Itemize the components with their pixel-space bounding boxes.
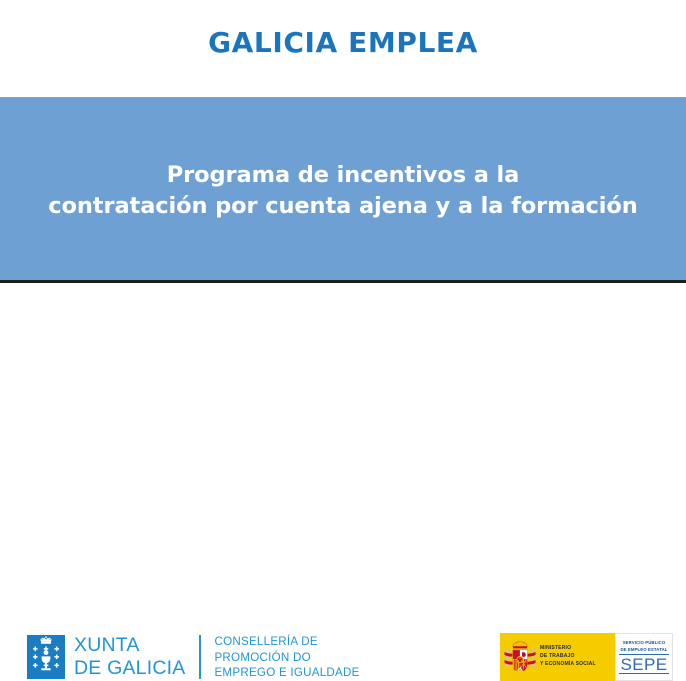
spanish-coat-of-arms-icon xyxy=(504,638,536,676)
xunta-wordmark: XUNTA DE GALICIA xyxy=(74,634,185,680)
ministerio-logo: MINISTERIO DE TRABAJO Y ECONOMÍA SOCIAL xyxy=(500,633,615,681)
government-logos: MINISTERIO DE TRABAJO Y ECONOMÍA SOCIAL … xyxy=(500,633,673,681)
sepe-logo: SERVICIO PÚBLICO DE EMPLEO ESTATAL SEPE xyxy=(615,633,673,681)
xunta-de-galicia-logo: XUNTA DE GALICIA CONSELLERÍA DE PROMOCIÓ… xyxy=(27,634,360,681)
sepe-acronym: SEPE xyxy=(619,654,670,674)
footer: XUNTA DE GALICIA CONSELLERÍA DE PROMOCIÓ… xyxy=(0,286,686,410)
sepe-caption: SERVICIO PÚBLICO DE EMPLEO ESTATAL xyxy=(620,640,667,652)
logo-divider xyxy=(199,635,201,679)
xunta-chalice-emblem-icon xyxy=(27,635,65,679)
ministerio-label: MINISTERIO DE TRABAJO Y ECONOMÍA SOCIAL xyxy=(540,645,596,669)
conselleria-label: CONSELLERÍA DE PROMOCIÓN DO EMPREGO E IG… xyxy=(214,634,359,681)
program-heading: Programa de incentivos a la contratación… xyxy=(13,160,673,221)
page-title: GALICIA EMPLEA xyxy=(0,28,686,59)
program-banner: Programa de incentivos a la contratación… xyxy=(0,97,686,283)
